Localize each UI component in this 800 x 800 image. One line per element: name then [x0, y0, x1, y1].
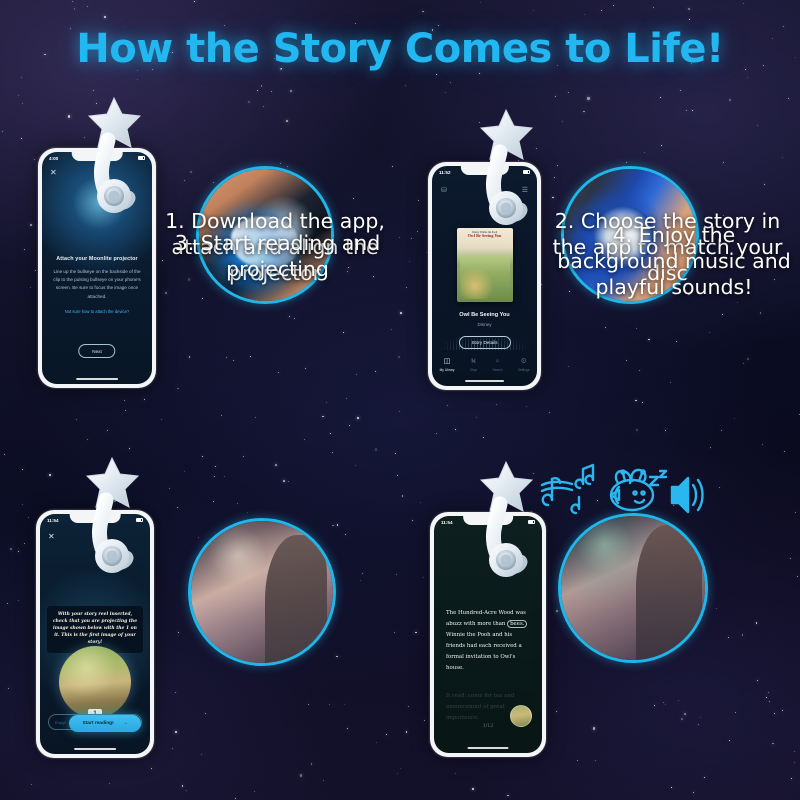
phone-mock-step-1: 4:00 ✕ Attach your Moonlite projector Li… — [38, 148, 156, 388]
tab-label: My Library — [440, 368, 455, 372]
status-time: 11:52 — [439, 170, 451, 175]
book-cover-title: Owl Be Seeing You — [457, 234, 513, 239]
status-time: 11:54 — [47, 518, 59, 523]
tab-label: Search — [492, 368, 502, 372]
battery-icon — [523, 170, 530, 174]
page-indicator: 1/12 — [434, 724, 542, 729]
book-cover[interactable]: Disney Winnie the Pooh Owl Be Seeing You — [457, 228, 513, 302]
battery-icon — [528, 520, 535, 524]
sound-icon-group — [536, 455, 706, 525]
status-icons — [523, 170, 530, 174]
phone-screen-4: 11:54 The Hundred-Acre Wood was abuzz wi… — [434, 516, 542, 753]
status-icons — [136, 518, 143, 522]
phone-screen-2: 11:52 ⛁ ☰ Disney Winnie the Pooh Owl Be … — [432, 166, 537, 386]
close-icon[interactable]: ✕ — [50, 168, 57, 177]
story-title: Owl Be Seeing You — [432, 312, 537, 318]
start-reading-row: Enjoy! Start reading! → — [48, 714, 142, 730]
battery-icon — [136, 518, 143, 522]
phone-screen-1: 4:00 ✕ Attach your Moonlite projector Li… — [42, 152, 152, 384]
attach-instructions: Attach your Moonlite projector Line up t… — [50, 256, 144, 314]
home-indicator — [465, 380, 505, 383]
audio-waveform — [432, 328, 537, 350]
start-reading-label: Start reading! — [83, 721, 114, 726]
home-indicator — [74, 748, 116, 751]
status-time: 4:00 — [49, 156, 58, 161]
library-icon: ◫ — [440, 358, 455, 366]
tab-search[interactable]: ⌕ Search — [492, 358, 502, 372]
photo-step-3 — [188, 518, 336, 666]
arrow-right-icon: → — [123, 721, 128, 726]
cart-icon: ⛕ — [470, 358, 477, 366]
library-toolbar: ⛁ ☰ — [441, 186, 528, 194]
story-paragraph: The Hundred-Acre Wood was abuzz with mor… — [446, 608, 532, 674]
tab-label: Settings — [518, 368, 530, 372]
phone-mock-step-2: 11:52 ⛁ ☰ Disney Winnie the Pooh Owl Be … — [428, 162, 541, 390]
phone-screen-3: 11:54 ✕ With your story reel inserted, c… — [40, 514, 150, 754]
phone-mock-step-3: 11:54 ✕ With your story reel inserted, c… — [36, 510, 154, 758]
phone-notch — [70, 514, 121, 523]
poster-root: How the Story Comes to Life! 4:00 ✕ Atta… — [0, 0, 800, 800]
status-icons — [528, 520, 535, 524]
next-button[interactable]: Next — [78, 344, 115, 358]
attach-help-link[interactable]: Not sure how to attach the device? — [50, 309, 144, 314]
phone-notch — [72, 152, 123, 161]
lock-icon[interactable]: ⛁ — [441, 186, 447, 194]
book-cover-art — [460, 255, 510, 299]
status-icons — [138, 156, 145, 160]
home-indicator — [76, 378, 118, 381]
story-author: Disney — [432, 322, 537, 327]
photo-step-3-image — [191, 521, 333, 663]
photo-step-4-image — [561, 516, 705, 660]
phone-notch — [460, 166, 508, 175]
grid-icon[interactable]: ☰ — [522, 186, 528, 194]
gear-icon: ⚙ — [518, 358, 530, 366]
home-indicator — [467, 747, 508, 750]
speaker-icon — [672, 478, 703, 512]
start-reading-button[interactable]: Start reading! → — [69, 715, 141, 732]
attach-body: Line up the bullseye on the backside of … — [50, 268, 144, 301]
bottom-tab-bar: ◫ My Library ⛕ Shop ⌕ Search ⚙ Settings — [432, 356, 537, 378]
battery-icon — [138, 156, 145, 160]
tab-settings[interactable]: ⚙ Settings — [518, 358, 530, 372]
phone-notch — [463, 516, 513, 525]
reel-preview-image: 1 — [59, 646, 131, 718]
caption-step-3: 3. Start reading and projecting — [160, 230, 395, 282]
search-icon: ⌕ — [492, 358, 502, 366]
story-highlight-word[interactable]: bees. — [507, 620, 527, 628]
close-icon[interactable]: ✕ — [48, 532, 55, 541]
tab-shop[interactable]: ⛕ Shop — [470, 358, 477, 372]
caption-step-4: 4. Enjoy the background music and playfu… — [555, 222, 793, 301]
tab-label: Shop — [470, 368, 477, 372]
attach-heading: Attach your Moonlite projector — [50, 256, 144, 262]
tab-my-library[interactable]: ◫ My Library — [440, 358, 455, 372]
page-title: How the Story Comes to Life! — [0, 26, 800, 72]
music-notes-icon — [542, 465, 593, 513]
ghost-label: Enjoy! — [49, 720, 66, 725]
phone-mock-step-4: 11:54 The Hundred-Acre Wood was abuzz wi… — [430, 512, 546, 757]
bee-icon — [611, 470, 666, 510]
status-time: 11:54 — [441, 520, 453, 525]
photo-step-4 — [558, 513, 708, 663]
story-text-part-2: Winnie the Pooh and his friends had each… — [446, 632, 522, 671]
